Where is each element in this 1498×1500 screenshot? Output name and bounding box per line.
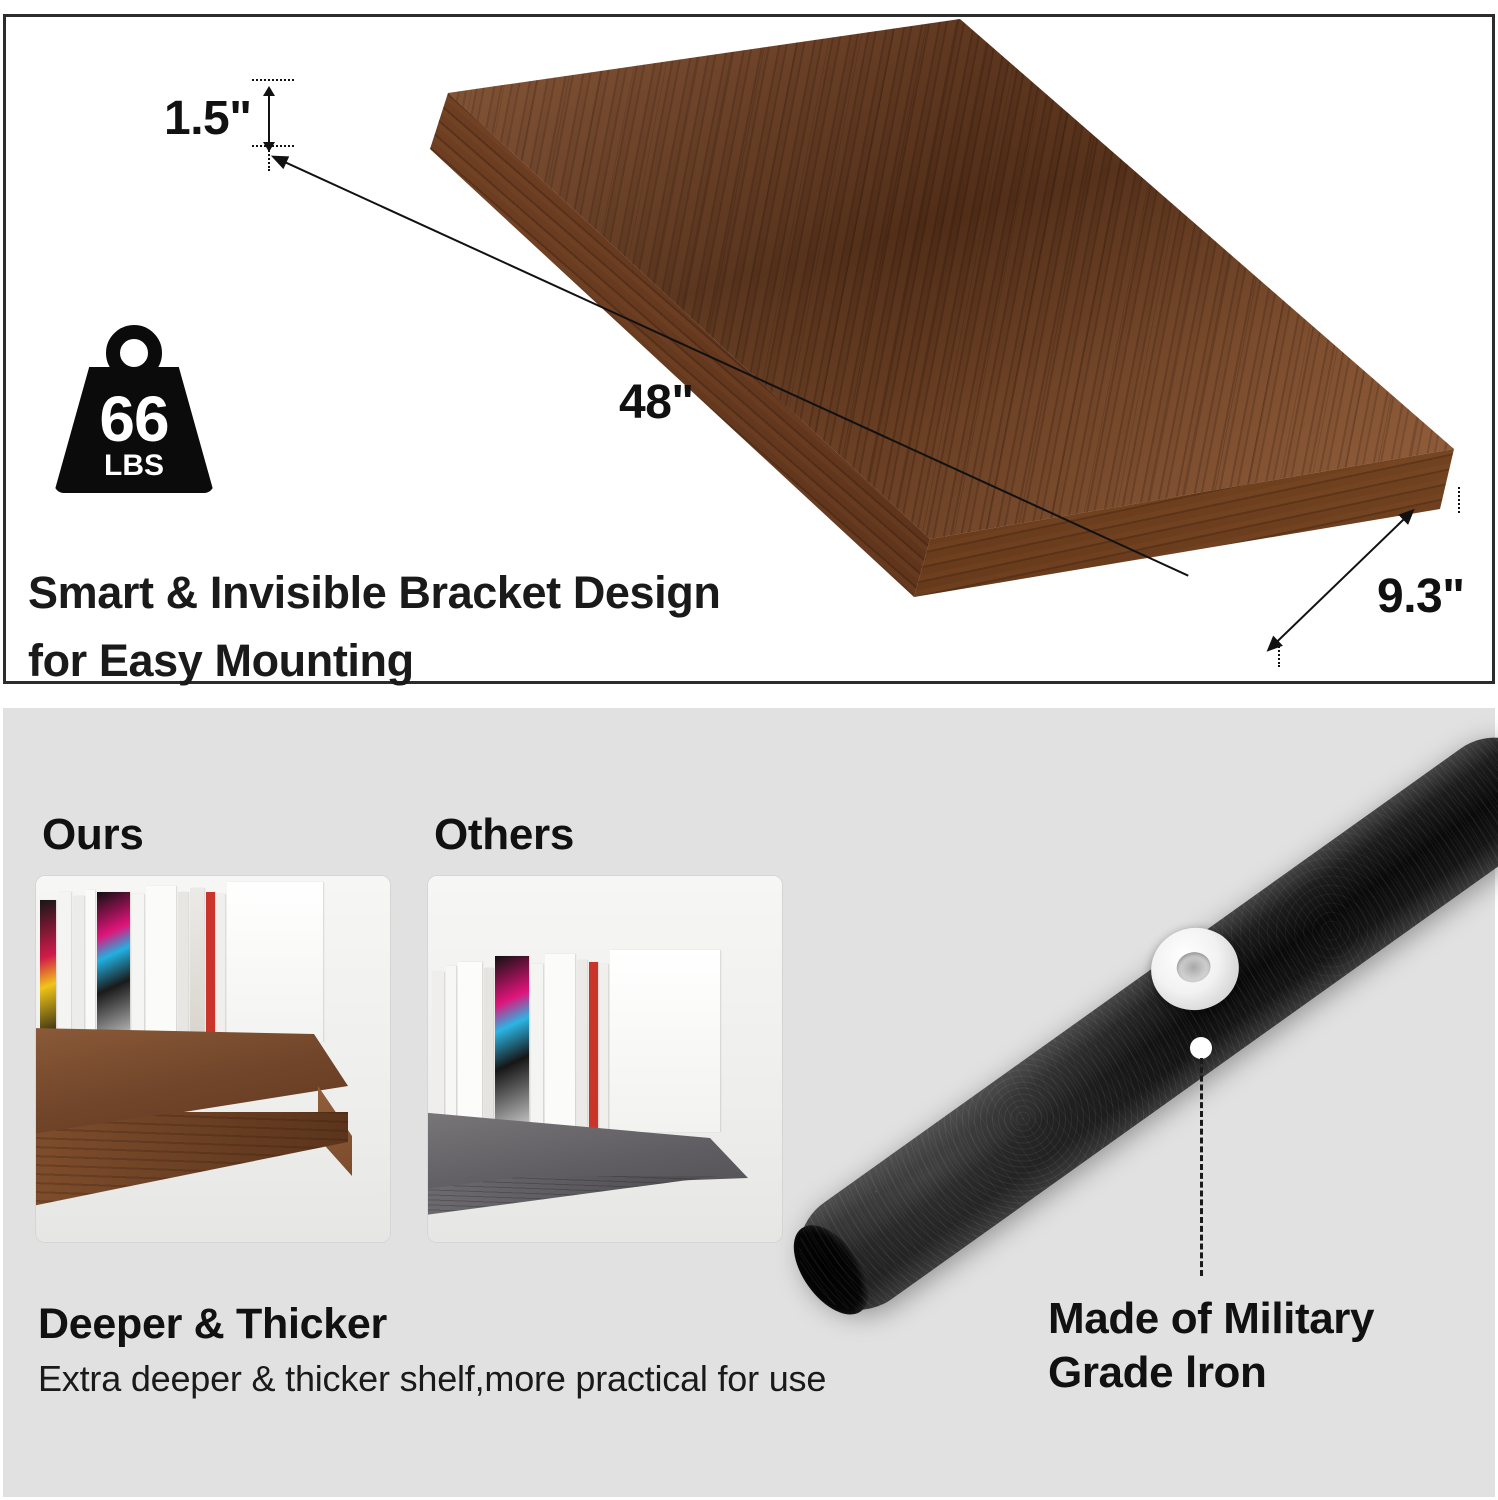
infographic-root: 1.5" 48" 9.3" 66 LBS Smart & Invisible B… (0, 0, 1498, 1500)
book (86, 890, 95, 1042)
book (610, 950, 720, 1132)
thickness-label: 1.5" (164, 91, 251, 146)
book (190, 888, 204, 1042)
book (495, 956, 529, 1132)
photo-ours (36, 876, 390, 1242)
book (97, 892, 130, 1042)
weight-value: 66 (54, 387, 214, 451)
book (432, 972, 444, 1132)
top-panel: 1.5" 48" 9.3" 66 LBS Smart & Invisible B… (3, 14, 1495, 684)
book (58, 892, 71, 1042)
photo-others (428, 876, 782, 1242)
feature-right-line-2: Grade lron (1048, 1346, 1478, 1400)
book (206, 892, 215, 1042)
book (178, 892, 188, 1042)
photo-others-books (432, 950, 722, 1132)
weight-unit: LBS (54, 451, 214, 481)
headline: Smart & Invisible Bracket Design for Eas… (28, 559, 928, 696)
label-others: Others (434, 810, 574, 860)
book (73, 896, 84, 1042)
book (531, 964, 543, 1132)
thickness-arrow (268, 95, 270, 143)
book (40, 900, 56, 1042)
book (217, 894, 225, 1042)
book (132, 894, 144, 1042)
depth-label: 9.3" (1377, 569, 1464, 624)
photo-ours-books (40, 882, 325, 1042)
book (545, 954, 575, 1132)
book (577, 960, 587, 1132)
callout-marker-dot (1190, 1037, 1212, 1059)
book (600, 964, 608, 1132)
label-ours: Ours (42, 810, 144, 860)
headline-line-2: for Easy Mounting (28, 627, 928, 695)
feature-left-title: Deeper & Thicker (38, 1300, 387, 1349)
callout-leader-line (1200, 1058, 1203, 1276)
feature-right-line-1: Made of Military (1048, 1292, 1478, 1346)
feature-left-subtitle: Extra deeper & thicker shelf,more practi… (38, 1358, 826, 1400)
book (146, 886, 176, 1042)
depth-guide-upper (1458, 487, 1460, 513)
length-label: 48" (619, 375, 694, 430)
feature-right-title: Made of Military Grade lron (1048, 1292, 1478, 1399)
book (227, 882, 323, 1042)
weight-capacity-badge: 66 LBS (54, 325, 214, 505)
book (484, 968, 493, 1132)
headline-line-1: Smart & Invisible Bracket Design (28, 559, 928, 627)
book (458, 962, 482, 1132)
book (589, 962, 598, 1132)
thickness-guide-top (252, 79, 294, 81)
book (446, 966, 456, 1132)
